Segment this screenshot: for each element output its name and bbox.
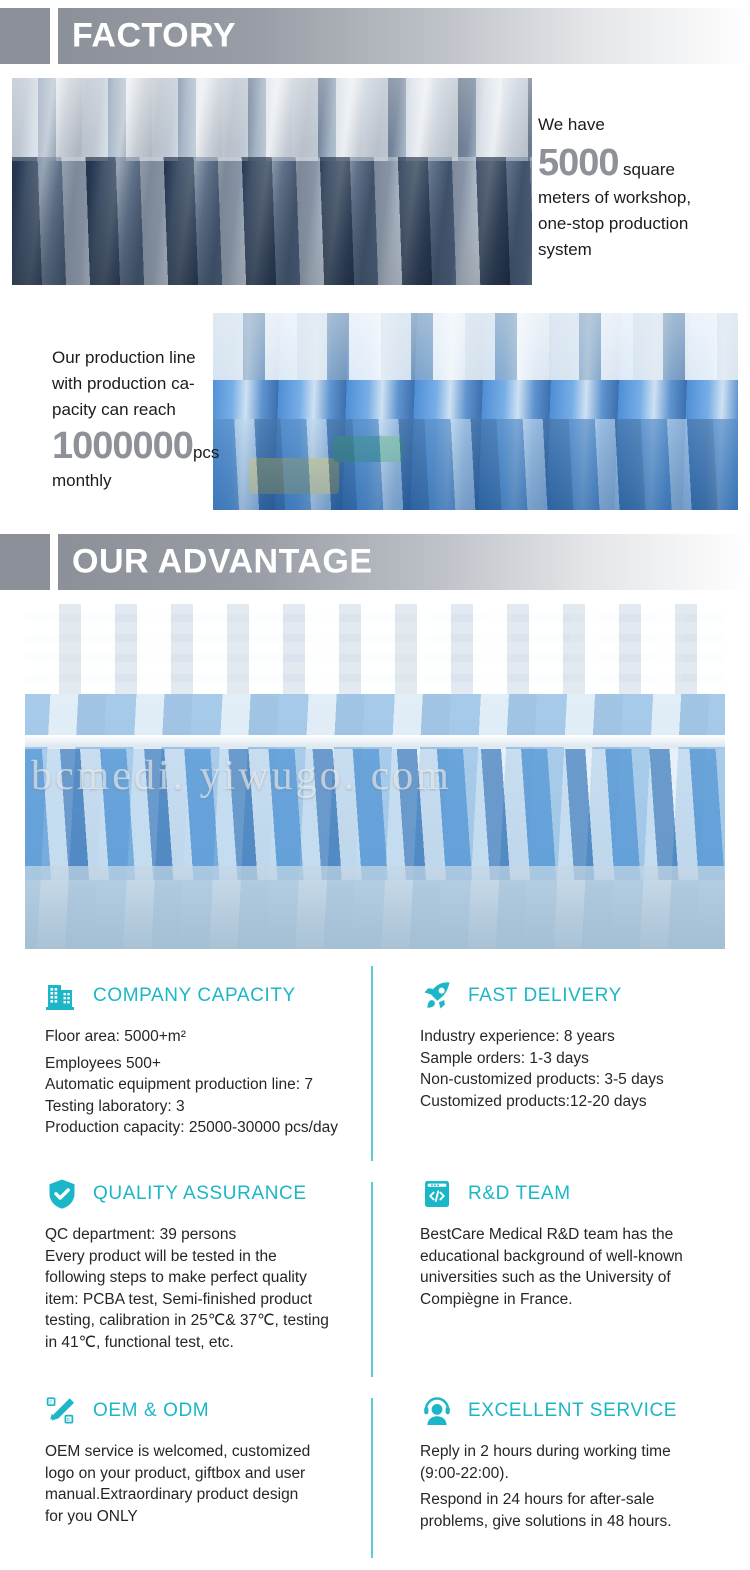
feature-quality-assurance: QUALITY ASSURANCE QC department: 39 pers…: [45, 1174, 385, 1353]
section-header-factory: FACTORY: [0, 8, 750, 64]
feature-line: Reply in 2 hours during working time: [420, 1441, 750, 1463]
feature-line: Floor area: 5000+m²: [45, 1026, 385, 1048]
page-title: FACTORY: [72, 17, 236, 56]
feature-header: EE OEM & ODM: [45, 1391, 385, 1431]
feature-line: logo on your product, giftbox and user: [45, 1463, 385, 1485]
header-accent-block-advantage: [0, 534, 50, 590]
feature-header: EXCELLENT SERVICE: [420, 1391, 750, 1431]
feature-line: Respond in 24 hours for after-sale: [420, 1489, 750, 1511]
callout2-unit: pcs: [193, 443, 219, 462]
photo-bench-row: [25, 735, 725, 747]
callout2-line-2: with production ca-: [52, 371, 212, 397]
header-accent-block: [0, 8, 50, 64]
feature-line: universities such as the University of: [420, 1267, 750, 1289]
feature-line: item: PCBA test, Semi-finished product: [45, 1289, 385, 1311]
callout-lead: We have: [538, 112, 743, 138]
feature-title: FAST DELIVERY: [468, 985, 622, 1007]
green-tray: [333, 436, 403, 462]
feature-line: QC department: 39 persons: [45, 1224, 385, 1246]
code-window-icon: [420, 1177, 454, 1211]
callout-line-1: meters of workshop,: [538, 185, 743, 211]
feature-rd-team: R&D TEAM BestCare Medical R&D team has t…: [420, 1174, 750, 1310]
feature-line: Non-customized products: 3-5 days: [420, 1069, 750, 1091]
callout2-line-4: monthly: [52, 468, 212, 494]
feature-title: R&D TEAM: [468, 1183, 571, 1205]
feature-title: COMPANY CAPACITY: [93, 985, 296, 1007]
section-title-advantage: OUR ADVANTAGE: [72, 543, 373, 582]
feature-body: BestCare Medical R&D team has the educat…: [420, 1224, 750, 1310]
pencil-design-icon: EE: [45, 1394, 79, 1428]
advantage-photo-workshop: bcmedi. yiwugo. com: [25, 604, 725, 949]
feature-oem-odm: EE OEM & ODM OEM service is welcomed, cu…: [45, 1391, 385, 1527]
callout-line-3: system: [538, 237, 743, 263]
callout-number: 5000: [538, 142, 619, 184]
advantage-feature-grid: COMPANY CAPACITY Floor area: 5000+m² Emp…: [0, 966, 750, 1566]
factory-photo-production-line: [213, 313, 738, 510]
feature-line: for you ONLY: [45, 1506, 385, 1528]
feature-title: QUALITY ASSURANCE: [93, 1183, 307, 1205]
feature-body: OEM service is welcomed, customized logo…: [45, 1441, 385, 1527]
yellow-tray: [249, 458, 339, 494]
svg-text:E: E: [49, 1399, 52, 1404]
svg-text:E: E: [67, 1417, 70, 1422]
factory-photo-assembly-line: [12, 78, 532, 285]
feature-line: (9:00-22:00).: [420, 1463, 750, 1485]
rocket-icon: [420, 979, 454, 1013]
feature-fast-delivery: FAST DELIVERY Industry experience: 8 yea…: [420, 976, 750, 1112]
photo-workers: [25, 749, 725, 880]
callout2-line-1: Our production line: [52, 345, 212, 371]
feature-line: Automatic equipment production line: 7: [45, 1074, 385, 1096]
callout2-line-3: pacity can reach: [52, 397, 212, 423]
feature-title: OEM & ODM: [93, 1400, 209, 1422]
callout2-number: 1000000: [52, 425, 193, 467]
feature-line: Compiègne in France.: [420, 1289, 750, 1311]
feature-line: Production capacity: 25000-30000 pcs/day: [45, 1117, 385, 1139]
header-gradient-bar: FACTORY: [58, 8, 750, 64]
feature-line: Employees 500+: [45, 1053, 385, 1075]
feature-line: Every product will be tested in the: [45, 1246, 385, 1268]
feature-title: EXCELLENT SERVICE: [468, 1400, 677, 1422]
feature-line: following steps to make perfect quality: [45, 1267, 385, 1289]
feature-body: QC department: 39 persons Every product …: [45, 1224, 385, 1353]
feature-body: Floor area: 5000+m² Employees 500+ Autom…: [45, 1026, 385, 1139]
feature-line: in 41℃, functional test, etc.: [45, 1332, 385, 1354]
feature-line: Sample orders: 1-3 days: [420, 1048, 750, 1070]
feature-line: OEM service is welcomed, customized: [45, 1441, 385, 1463]
photo-ceiling: [25, 604, 725, 694]
feature-line: manual.Extraordinary product design: [45, 1484, 385, 1506]
feature-header: R&D TEAM: [420, 1174, 750, 1214]
feature-line: testing, calibration in 25℃& 37℃, testin…: [45, 1310, 385, 1332]
factory-callout-capacity: We have 5000 square meters of workshop, …: [538, 112, 743, 263]
feature-body: Reply in 2 hours during working time (9:…: [420, 1441, 750, 1532]
feature-line: problems, give solutions in 48 hours.: [420, 1511, 750, 1533]
factory-callout-output: Our production line with production ca- …: [52, 345, 212, 494]
feature-header: COMPANY CAPACITY: [45, 976, 385, 1016]
feature-line: educational background of well-known: [420, 1246, 750, 1268]
feature-company-capacity: COMPANY CAPACITY Floor area: 5000+m² Emp…: [45, 976, 385, 1139]
feature-header: FAST DELIVERY: [420, 976, 750, 1016]
callout-line-2: one-stop production: [538, 211, 743, 237]
feature-line: Industry experience: 8 years: [420, 1026, 750, 1048]
feature-body: Industry experience: 8 years Sample orde…: [420, 1026, 750, 1112]
building-icon: [45, 979, 79, 1013]
photo-floor: [25, 866, 725, 949]
headset-agent-icon: [420, 1394, 454, 1428]
shield-check-icon: [45, 1177, 79, 1211]
feature-header: QUALITY ASSURANCE: [45, 1174, 385, 1214]
section-header-advantage: OUR ADVANTAGE: [0, 534, 750, 590]
feature-line: BestCare Medical R&D team has the: [420, 1224, 750, 1246]
header-gradient-bar-advantage: OUR ADVANTAGE: [58, 534, 750, 590]
feature-line: Customized products:12-20 days: [420, 1091, 750, 1113]
feature-line: Testing laboratory: 3: [45, 1096, 385, 1118]
feature-excellent-service: EXCELLENT SERVICE Reply in 2 hours durin…: [420, 1391, 750, 1532]
callout-unit: square: [623, 160, 675, 179]
